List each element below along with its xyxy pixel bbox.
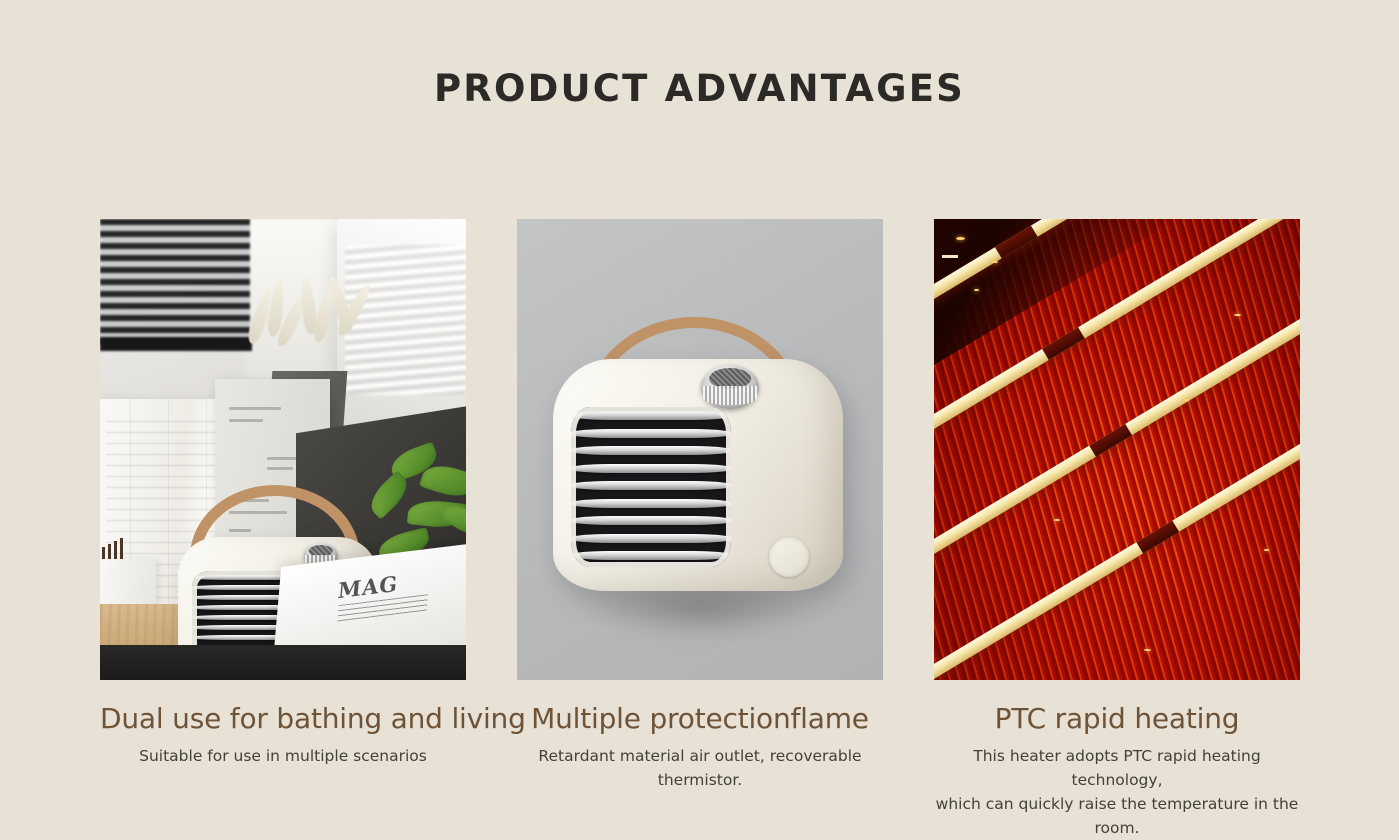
document-text-line xyxy=(229,407,281,410)
white-marker-tick xyxy=(942,255,958,258)
strap-fastener-disc xyxy=(769,537,809,577)
spark xyxy=(974,289,979,291)
page-title: PRODUCT ADVANTAGES xyxy=(0,67,1399,110)
heater-control-knob xyxy=(701,365,759,409)
portable-heater-product xyxy=(553,359,843,591)
card-subtitle: Retardant material air outlet, recoverab… xyxy=(517,744,883,792)
advantage-card-ptc-heating: PTC rapid heating This heater adopts PTC… xyxy=(934,219,1300,840)
card-heading: PTC rapid heating xyxy=(934,702,1300,735)
ptc-heating-element-image xyxy=(934,219,1300,680)
spark xyxy=(1184,399,1189,401)
document-text-line xyxy=(267,457,297,460)
heater-studio-shot-image xyxy=(517,219,883,680)
heater-on-wooden-desk-image: MAG xyxy=(100,219,466,680)
card-subtitle-line-2: which can quickly raise the temperature … xyxy=(934,792,1300,840)
advantages-card-row: MAG Dual use for bathing and living Suit… xyxy=(100,219,1300,840)
card-heading: Multiple protectionflame xyxy=(517,702,883,735)
spark xyxy=(1264,549,1269,551)
advantage-card-multiple-protection: Multiple protectionflame Retardant mater… xyxy=(517,219,883,840)
grille-bezel xyxy=(571,407,731,567)
spark xyxy=(1144,649,1151,651)
card-subtitle: This heater adopts PTC rapid heating tec… xyxy=(934,744,1300,840)
advantage-card-dual-use: MAG Dual use for bathing and living Suit… xyxy=(100,219,466,840)
card-heading: Dual use for bathing and living xyxy=(100,702,466,735)
dried-grass-decor xyxy=(250,224,370,339)
card-subtitle: Suitable for use in multiple scenarios xyxy=(100,744,466,768)
blinds-frame xyxy=(100,337,252,351)
spark xyxy=(956,237,965,240)
card-subtitle-line-1: This heater adopts PTC rapid heating tec… xyxy=(934,744,1300,792)
spark xyxy=(1054,519,1060,521)
document-text-line xyxy=(229,419,263,422)
document-text-line xyxy=(267,467,293,470)
spark xyxy=(1234,314,1241,316)
spark xyxy=(992,261,998,263)
window-blinds xyxy=(100,219,250,344)
desk-edge xyxy=(100,645,466,680)
